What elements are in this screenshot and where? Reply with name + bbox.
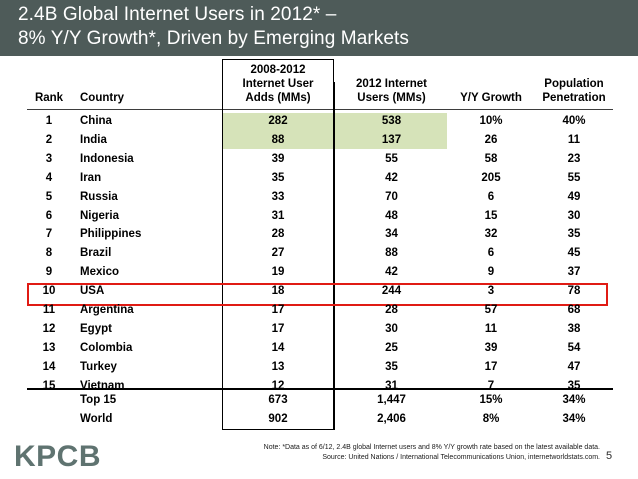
cell-rows-2-country: Indonesia [80, 153, 215, 165]
cell-rows-6-users: 34 [336, 228, 447, 240]
cell-rows-13-growth: 17 [449, 361, 533, 373]
cell-rows-11-adds: 17 [222, 323, 334, 335]
cell-rows-2-users: 55 [336, 153, 447, 165]
cell-rows-3-rank: 4 [27, 172, 71, 184]
cell-rows-13-rank: 14 [27, 361, 71, 373]
cell-rows-12-adds: 14 [222, 342, 334, 354]
cell-rows-4-penetration: 49 [535, 191, 613, 203]
cell-totals-1-country: World [80, 413, 215, 425]
cell-rows-13-penetration: 47 [535, 361, 613, 373]
cell-rows-7-growth: 6 [449, 247, 533, 259]
cell-totals-0-users: 1,447 [336, 394, 447, 406]
cell-rows-9-penetration: 78 [535, 285, 613, 297]
header-adds-line-1: 2008-2012 [222, 64, 334, 76]
footnote-note: Note: *Data as of 6/12, 2.4B global Inte… [200, 444, 600, 451]
cell-rows-10-users: 28 [336, 304, 447, 316]
cell-rows-8-adds: 19 [222, 266, 334, 278]
cell-rows-9-country: USA [80, 285, 215, 297]
header-rank: Rank [27, 92, 71, 104]
cell-rows-13-users: 35 [336, 361, 447, 373]
cell-rows-5-users: 48 [336, 210, 447, 222]
cell-rows-11-country: Egypt [80, 323, 215, 335]
cell-rows-6-adds: 28 [222, 228, 334, 240]
cell-rows-13-adds: 13 [222, 361, 334, 373]
cell-rows-14-users: 31 [336, 380, 447, 392]
header-country: Country [80, 92, 215, 104]
slide-title-band: 2.4B Global Internet Users in 2012* – 8%… [0, 0, 638, 56]
cell-rows-4-growth: 6 [449, 191, 533, 203]
cell-rows-8-penetration: 37 [535, 266, 613, 278]
cell-rows-4-country: Russia [80, 191, 215, 203]
cell-rows-11-users: 30 [336, 323, 447, 335]
cell-rows-1-rank: 2 [27, 134, 71, 146]
cell-rows-7-country: Brazil [80, 247, 215, 259]
header-penetration-line-2: Penetration [535, 92, 613, 104]
footnote-source: Source: United Nations / International T… [200, 454, 600, 461]
cell-rows-6-country: Philippines [80, 228, 215, 240]
cell-rows-5-rank: 6 [27, 210, 71, 222]
cell-totals-0-adds: 673 [222, 394, 334, 406]
cell-rows-1-country: India [80, 134, 215, 146]
cell-rows-11-penetration: 38 [535, 323, 613, 335]
cell-rows-0-growth: 10% [449, 115, 533, 127]
slide-title-line-2: 8% Y/Y Growth*, Driven by Emerging Marke… [18, 28, 409, 50]
cell-rows-8-growth: 9 [449, 266, 533, 278]
cell-totals-1-penetration: 34% [535, 413, 613, 425]
cell-rows-6-growth: 32 [449, 228, 533, 240]
cell-rows-9-users: 244 [336, 285, 447, 297]
header-adds-line-2: Internet User [222, 78, 334, 90]
cell-rows-10-country: Argentina [80, 304, 215, 316]
cell-rows-5-adds: 31 [222, 210, 334, 222]
cell-rows-2-growth: 58 [449, 153, 533, 165]
cell-totals-1-growth: 8% [449, 413, 533, 425]
cell-rows-2-penetration: 23 [535, 153, 613, 165]
cell-rows-9-rank: 10 [27, 285, 71, 297]
cell-rows-1-users: 137 [336, 134, 447, 146]
cell-rows-10-penetration: 68 [535, 304, 613, 316]
cell-rows-0-users: 538 [336, 115, 447, 127]
cell-rows-12-growth: 39 [449, 342, 533, 354]
cell-rows-14-country: Vietnam [80, 380, 215, 392]
cell-rows-0-rank: 1 [27, 115, 71, 127]
cell-rows-10-rank: 11 [27, 304, 71, 316]
cell-rows-12-penetration: 54 [535, 342, 613, 354]
cell-rows-4-adds: 33 [222, 191, 334, 203]
cell-rows-2-rank: 3 [27, 153, 71, 165]
header-penetration-line-1: Population [535, 78, 613, 90]
cell-rows-7-users: 88 [336, 247, 447, 259]
header-adds-line-3: Adds (MMs) [222, 92, 334, 104]
cell-rows-1-penetration: 11 [535, 134, 613, 146]
cell-rows-7-rank: 8 [27, 247, 71, 259]
kpcb-logo: KPCB [14, 440, 101, 474]
cell-rows-9-adds: 18 [222, 285, 334, 297]
cell-rows-8-country: Mexico [80, 266, 215, 278]
cell-rows-11-rank: 12 [27, 323, 71, 335]
cell-rows-6-penetration: 35 [535, 228, 613, 240]
cell-rows-10-growth: 57 [449, 304, 533, 316]
cell-rows-3-growth: 205 [449, 172, 533, 184]
cell-totals-0-penetration: 34% [535, 394, 613, 406]
cell-rows-0-country: China [80, 115, 215, 127]
cell-rows-5-penetration: 30 [535, 210, 613, 222]
cell-totals-0-country: Top 15 [80, 394, 215, 406]
cell-rows-1-adds: 88 [222, 134, 334, 146]
cell-totals-1-adds: 902 [222, 413, 334, 425]
cell-rows-3-adds: 35 [222, 172, 334, 184]
cell-totals-0-growth: 15% [449, 394, 533, 406]
cell-rows-4-users: 70 [336, 191, 447, 203]
page-number: 5 [606, 450, 612, 462]
cell-rows-14-growth: 7 [449, 380, 533, 392]
cell-rows-0-penetration: 40% [535, 115, 613, 127]
cell-rows-7-adds: 27 [222, 247, 334, 259]
header-growth: Y/Y Growth [449, 92, 533, 104]
cell-rows-14-adds: 12 [222, 380, 334, 392]
cell-rows-2-adds: 39 [222, 153, 334, 165]
data-table: Rank Country 2008-2012 Internet User Add… [0, 56, 638, 479]
cell-rows-8-users: 42 [336, 266, 447, 278]
cell-rows-12-users: 25 [336, 342, 447, 354]
header-users-line-2: Users (MMs) [336, 92, 447, 104]
cell-rows-3-penetration: 55 [535, 172, 613, 184]
header-users-line-1: 2012 Internet [336, 78, 447, 90]
cell-rows-12-country: Colombia [80, 342, 215, 354]
cell-rows-4-rank: 5 [27, 191, 71, 203]
cell-rows-12-rank: 13 [27, 342, 71, 354]
cell-rows-14-rank: 15 [27, 380, 71, 392]
cell-rows-11-growth: 11 [449, 323, 533, 335]
cell-rows-6-rank: 7 [27, 228, 71, 240]
cell-rows-8-rank: 9 [27, 266, 71, 278]
cell-rows-0-adds: 282 [222, 115, 334, 127]
cell-rows-14-penetration: 35 [535, 380, 613, 392]
slide-title-line-1: 2.4B Global Internet Users in 2012* – [18, 4, 336, 26]
cell-rows-5-country: Nigeria [80, 210, 215, 222]
cell-rows-7-penetration: 45 [535, 247, 613, 259]
header-rule [27, 109, 613, 110]
cell-rows-1-growth: 26 [449, 134, 533, 146]
slide-canvas: 2.4B Global Internet Users in 2012* – 8%… [0, 0, 638, 479]
cell-rows-9-growth: 3 [449, 285, 533, 297]
cell-totals-1-users: 2,406 [336, 413, 447, 425]
cell-rows-3-country: Iran [80, 172, 215, 184]
cell-rows-5-growth: 15 [449, 210, 533, 222]
cell-rows-10-adds: 17 [222, 304, 334, 316]
cell-rows-13-country: Turkey [80, 361, 215, 373]
cell-rows-3-users: 42 [336, 172, 447, 184]
